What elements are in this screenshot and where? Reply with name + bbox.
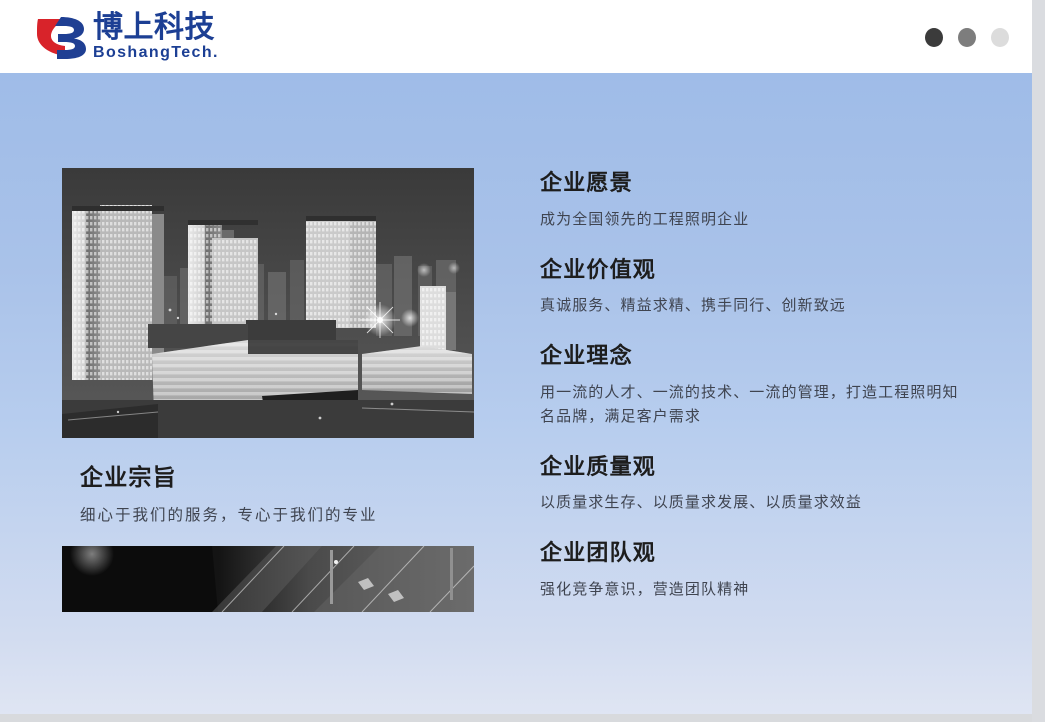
boshang-logo-icon — [36, 14, 88, 60]
culture-desc: 真诚服务、精益求精、携手同行、创新致远 — [540, 293, 960, 317]
road-night-photo — [62, 546, 474, 612]
carousel-dots[interactable] — [925, 28, 1009, 47]
culture-desc: 以质量求生存、以质量求发展、以质量求效益 — [540, 490, 960, 514]
culture-title: 企业质量观 — [540, 454, 960, 482]
culture-desc: 强化竞争意识，营造团队精神 — [540, 577, 960, 601]
left-column: 企业宗旨 细心于我们的服务，专心于我们的专业 — [62, 168, 474, 612]
culture-item-philosophy: 企业理念 用一流的人才、一流的技术、一流的管理，打造工程照明知名品牌，满足客户需… — [540, 343, 960, 428]
vertical-scrollbar[interactable] — [1032, 0, 1045, 714]
brand-logo-link[interactable]: 博上科技 BoshangTech. — [36, 11, 219, 63]
culture-title: 企业价值观 — [540, 257, 960, 285]
purpose-desc: 细心于我们的服务，专心于我们的专业 — [80, 503, 474, 528]
culture-item-quality: 企业质量观 以质量求生存、以质量求发展、以质量求效益 — [540, 454, 960, 515]
horizontal-scrollbar[interactable] — [0, 714, 1045, 722]
culture-title: 企业愿景 — [540, 170, 960, 198]
purpose-block: 企业宗旨 细心于我们的服务，专心于我们的专业 — [62, 464, 474, 528]
brand-name-en: BoshangTech. — [93, 45, 219, 61]
culture-title: 企业团队观 — [540, 540, 960, 568]
culture-title: 企业理念 — [540, 343, 960, 371]
carousel-dot-3[interactable] — [991, 28, 1009, 47]
scrollbar-corner — [1032, 714, 1045, 722]
page-root: 博上科技 BoshangTech. — [0, 0, 1045, 722]
carousel-dot-2[interactable] — [958, 28, 976, 47]
culture-item-values: 企业价值观 真诚服务、精益求精、携手同行、创新致远 — [540, 257, 960, 318]
culture-desc: 成为全国领先的工程照明企业 — [540, 207, 960, 231]
purpose-title: 企业宗旨 — [80, 464, 474, 493]
culture-item-team: 企业团队观 强化竞争意识，营造团队精神 — [540, 540, 960, 601]
city-night-photo — [62, 168, 474, 438]
brand-wordmark: 博上科技 BoshangTech. — [93, 13, 219, 61]
culture-content: 企业宗旨 细心于我们的服务，专心于我们的专业 — [0, 73, 1032, 714]
culture-desc: 用一流的人才、一流的技术、一流的管理，打造工程照明知名品牌，满足客户需求 — [540, 380, 960, 428]
site-header: 博上科技 BoshangTech. — [0, 0, 1032, 73]
right-column: 企业愿景 成为全国领先的工程照明企业 企业价值观 真诚服务、精益求精、携手同行、… — [540, 170, 960, 601]
browser-viewport: 博上科技 BoshangTech. — [0, 0, 1032, 714]
culture-section: 企业宗旨 细心于我们的服务，专心于我们的专业 — [0, 73, 1032, 714]
brand-name-cn: 博上科技 — [93, 13, 219, 43]
culture-item-vision: 企业愿景 成为全国领先的工程照明企业 — [540, 170, 960, 231]
carousel-dot-1[interactable] — [925, 28, 943, 47]
